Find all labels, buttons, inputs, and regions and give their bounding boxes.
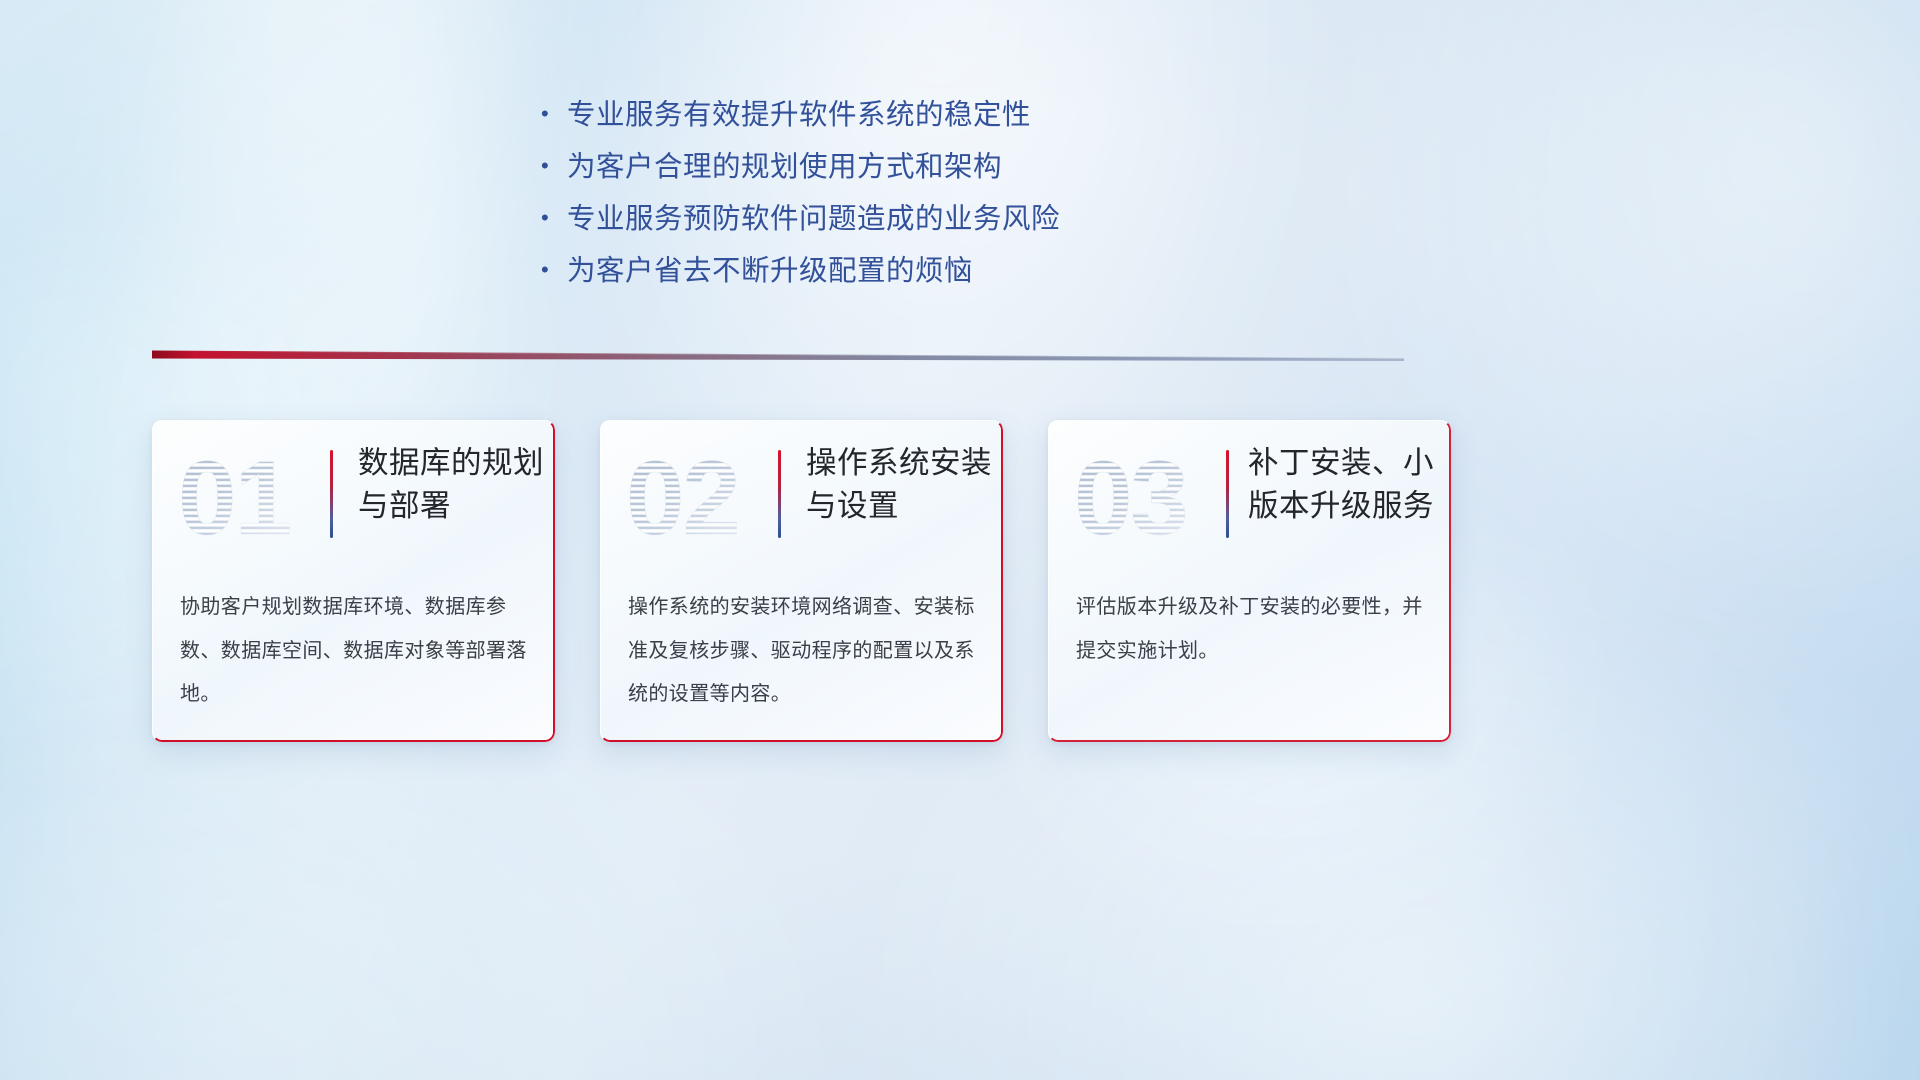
svg-text:03: 03 [1074, 442, 1187, 552]
bullet-marker-icon: • [541, 207, 567, 229]
card-title: 补丁安装、小版本升级服务 [1248, 442, 1451, 529]
striped-number-icon: 02 02 [624, 442, 764, 552]
card-header: 01 01 数据库的规划与部署 [152, 420, 555, 572]
card-description: 协助客户规划数据库环境、数据库参数、数据库空间、数据库对象等部署落地。 [180, 586, 532, 717]
bullet-text: 专业服务预防软件问题造成的业务风险 [567, 196, 1060, 237]
card-header: 02 02 操作系统安装与设置 [600, 420, 1003, 572]
card-header: 03 03 补丁安装、小版本升级服务 [1048, 420, 1451, 572]
svg-text:02: 02 [626, 442, 739, 552]
section-divider [152, 349, 1404, 365]
card-title-text: 操作系统安装与设置 [806, 446, 992, 523]
card-number-watermark: 01 01 [176, 442, 316, 552]
list-item: • 专业服务预防软件问题造成的业务风险 [541, 196, 1261, 248]
card-accent-bar [330, 450, 333, 538]
bullet-marker-icon: • [541, 259, 567, 281]
card-title: 数据库的规划与部署 [358, 442, 548, 529]
striped-number-icon: 03 03 [1072, 442, 1212, 552]
list-item: • 为客户合理的规划使用方式和架构 [541, 144, 1261, 196]
card-title: 操作系统安装与设置 [806, 442, 1002, 529]
service-card[interactable]: 03 03 补丁安装、小版本升级服务 评估版本升级及补丁安装的必要性，并提交实施… [1048, 420, 1451, 742]
card-description: 评估版本升级及补丁安装的必要性，并提交实施计划。 [1076, 586, 1428, 673]
svg-text:01: 01 [178, 442, 291, 552]
card-title-text: 补丁安装、小版本升级服务 [1248, 446, 1434, 523]
service-card[interactable]: 02 02 操作系统安装与设置 操作系统的安装环境网络调查、安装标准及复核步骤、… [600, 420, 1003, 742]
bullet-text: 专业服务有效提升软件系统的稳定性 [567, 92, 1031, 133]
card-number-watermark: 03 03 [1072, 442, 1212, 552]
bullet-text: 为客户省去不断升级配置的烦恼 [567, 248, 973, 289]
card-accent-bar [1226, 450, 1229, 538]
striped-number-icon: 01 01 [176, 442, 316, 552]
card-title-text: 数据库的规划与部署 [358, 446, 544, 523]
card-number-watermark: 02 02 [624, 442, 764, 552]
list-item: • 专业服务有效提升软件系统的稳定性 [541, 92, 1261, 144]
bullet-marker-icon: • [541, 103, 567, 125]
service-card[interactable]: 01 01 数据库的规划与部署 协助客户规划数据库环境、数据库参数、数据库空间、… [152, 420, 555, 742]
divider-wedge-icon [152, 349, 1404, 365]
bullet-text: 为客户合理的规划使用方式和架构 [567, 144, 1002, 185]
benefits-bullet-list: • 专业服务有效提升软件系统的稳定性 • 为客户合理的规划使用方式和架构 • 专… [541, 92, 1261, 300]
card-description: 操作系统的安装环境网络调查、安装标准及复核步骤、驱动程序的配置以及系统的设置等内… [628, 586, 980, 717]
card-accent-bar [778, 450, 781, 538]
bullet-marker-icon: • [541, 155, 567, 177]
list-item: • 为客户省去不断升级配置的烦恼 [541, 248, 1261, 300]
service-card-group: 01 01 数据库的规划与部署 协助客户规划数据库环境、数据库参数、数据库空间、… [152, 420, 1452, 745]
